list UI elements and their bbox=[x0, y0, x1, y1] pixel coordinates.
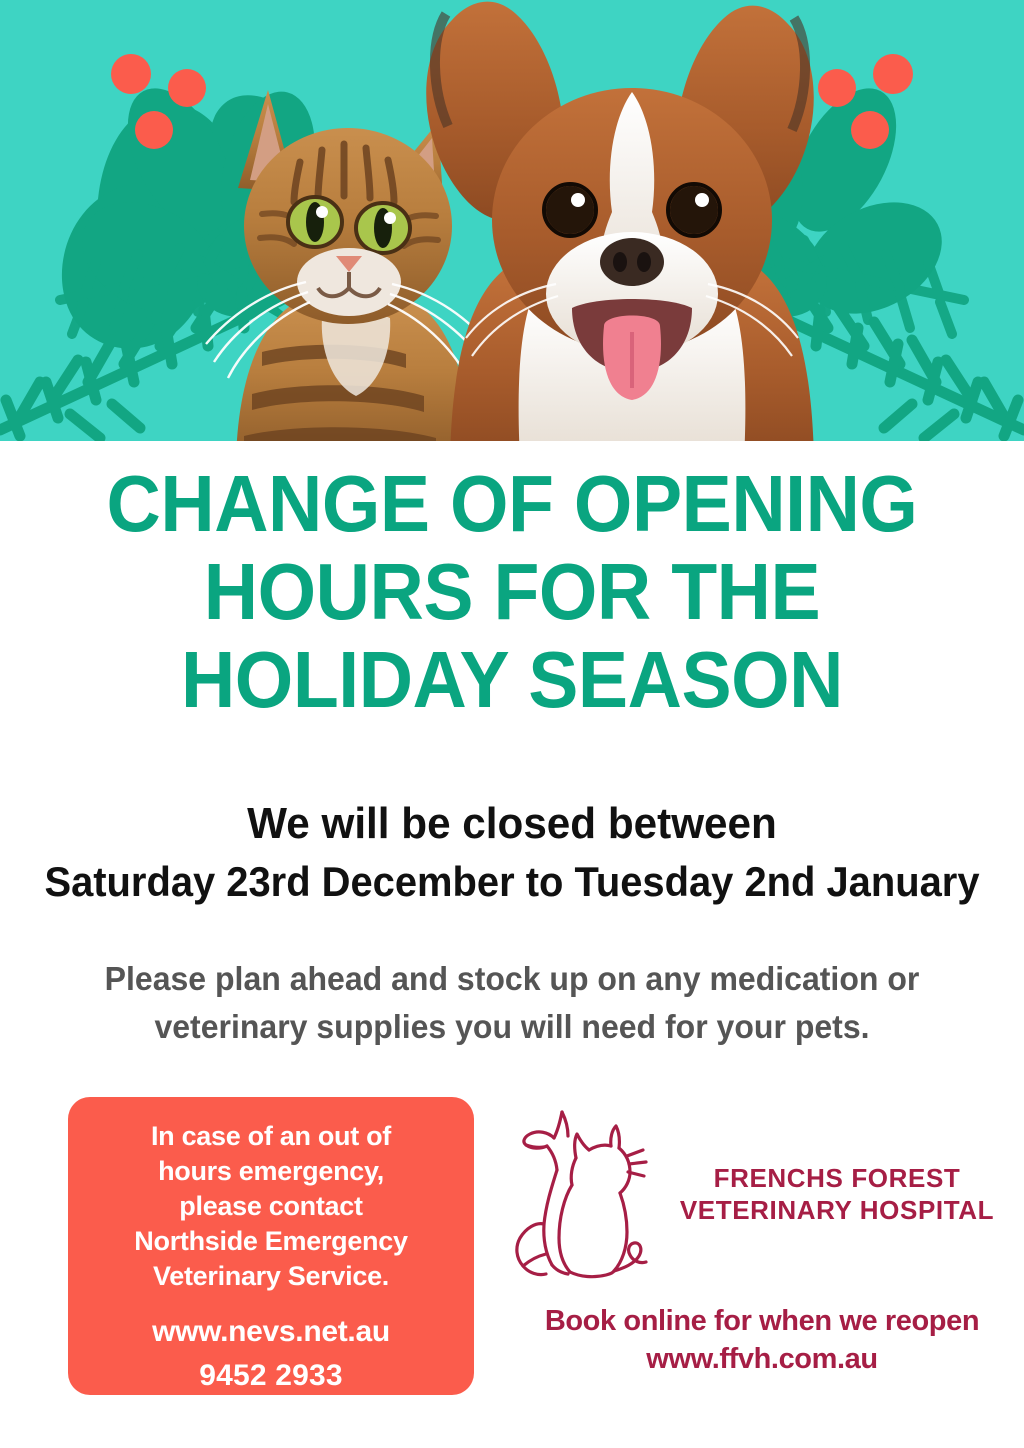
emergency-line-2: hours emergency, bbox=[68, 1154, 474, 1189]
dog-and-cat-logo-icon bbox=[510, 1100, 660, 1285]
title-line-3: HOLIDAY SEASON bbox=[31, 636, 994, 724]
clinic-logo-block: FRENCHS FOREST VETERINARY HOSPITAL bbox=[500, 1100, 1010, 1290]
emergency-website-link[interactable]: www.nevs.net.au bbox=[68, 1312, 474, 1352]
closure-dates: Saturday 23rd December to Tuesday 2nd Ja… bbox=[26, 853, 999, 911]
body-paragraph: Please plan ahead and stock up on any me… bbox=[64, 955, 960, 1051]
closed-between-label: We will be closed between bbox=[20, 795, 1003, 853]
title-line-1: CHANGE OF OPENING bbox=[31, 460, 994, 548]
clinic-name-line-2: VETERINARY HOSPITAL bbox=[672, 1194, 1002, 1226]
clinic-name: FRENCHS FOREST VETERINARY HOSPITAL bbox=[672, 1162, 1002, 1226]
emergency-phone-number[interactable]: 9452 2933 bbox=[68, 1356, 474, 1396]
body-line-1: Please plan ahead and stock up on any me… bbox=[64, 955, 960, 1003]
emergency-contact-box: In case of an out of hours emergency, pl… bbox=[68, 1097, 474, 1395]
body-line-2: veterinary supplies you will need for yo… bbox=[64, 1003, 960, 1051]
page-title: CHANGE OF OPENING HOURS FOR THE HOLIDAY … bbox=[31, 460, 994, 724]
clinic-website-link[interactable]: www.ffvh.com.au bbox=[500, 1340, 1024, 1378]
top-banner bbox=[0, 0, 1024, 441]
emergency-line-5: Veterinary Service. bbox=[68, 1259, 474, 1294]
booking-callout: Book online for when we reopen www.ffvh.… bbox=[500, 1302, 1024, 1378]
booking-line-1: Book online for when we reopen bbox=[500, 1302, 1024, 1340]
emergency-line-4: Northside Emergency bbox=[68, 1224, 474, 1259]
emergency-line-3: please contact bbox=[68, 1189, 474, 1224]
closure-subheading: We will be closed between Saturday 23rd … bbox=[0, 795, 1024, 911]
dog-illustration bbox=[426, 2, 814, 441]
clinic-name-line-1: FRENCHS FOREST bbox=[672, 1162, 1002, 1194]
title-line-2: HOURS FOR THE bbox=[31, 548, 994, 636]
pets-photo bbox=[0, 0, 1024, 441]
emergency-line-1: In case of an out of bbox=[68, 1119, 474, 1154]
